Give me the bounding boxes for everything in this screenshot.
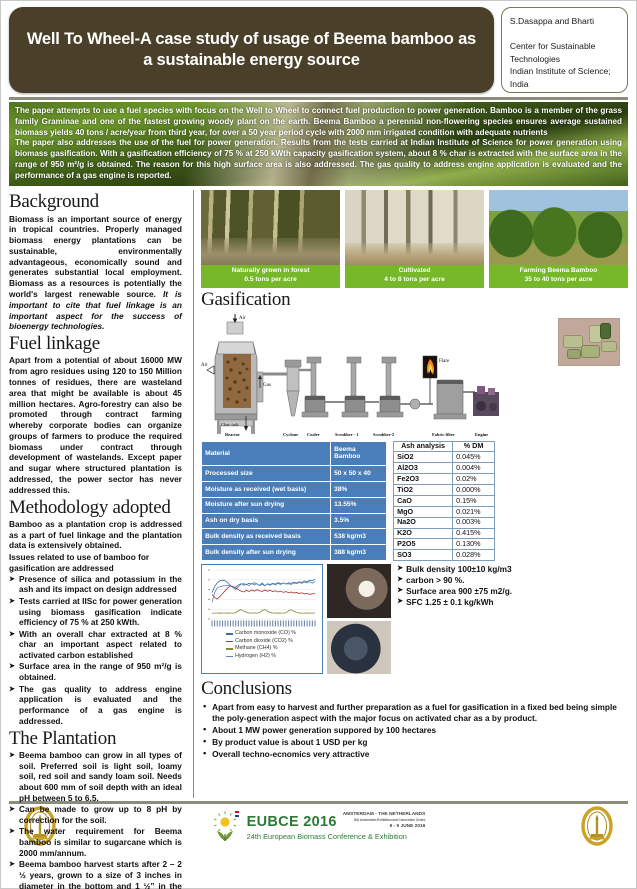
list-item: Apart from easy to harvest and further p…: [201, 702, 628, 724]
table-cell-value: 0.415%: [453, 528, 495, 539]
author-names-text: S.Dasappa and Bharti: [510, 15, 619, 27]
svg-text:Engine: Engine: [475, 432, 488, 437]
list-item: By product value is about 1 USD per kg: [201, 737, 628, 748]
table-cell-value: 3.5%: [331, 513, 387, 529]
svg-text:Cyclone: Cyclone: [283, 432, 298, 437]
table-cell-label: Moisture after sun drying: [202, 497, 331, 513]
svg-text:Scrubber - 1: Scrubber - 1: [335, 432, 358, 437]
table-cell-value: 0.028%: [453, 550, 495, 561]
table-row: Fe2O30.02%: [394, 474, 495, 485]
legend-label: Carbon monoxide (CO) %: [235, 630, 296, 638]
methodology-lead: Issues related to use of bamboo for gasi…: [9, 552, 182, 574]
table-cell-value: 538 kg/m3: [331, 529, 387, 545]
table-cell-value: 0.130%: [453, 539, 495, 550]
eubce-sun-plant-icon: [212, 810, 242, 842]
legend-label: Hydrogen (H2) %: [235, 653, 276, 661]
svg-text:Char /ash: Char /ash: [221, 422, 239, 427]
background-text-plain: Biomass is an important source of energy…: [9, 214, 182, 299]
chart-series-methane-ch4-: [212, 610, 315, 614]
table-cell-label: Al2O3: [394, 463, 453, 474]
legend-entry: Carbon dioxide (CO2) %: [204, 638, 320, 646]
table-row: MaterialBeema Bamboo: [202, 441, 387, 465]
abstract-paragraph-1: The paper attempts to use a fuel species…: [15, 106, 622, 138]
table-cell-label: K2O: [394, 528, 453, 539]
list-item: Surface area 900 ±75 m2/g.: [397, 586, 628, 597]
legend-swatch: [226, 648, 233, 649]
table-cell-label: Bulk density after sun drying: [202, 545, 331, 561]
table-cell-label: Processed size: [202, 465, 331, 481]
bamboo-forest-image: [201, 190, 340, 265]
eubce-location-block: AMSTERDAM - THE NETHERLANDS RAI Amsterda…: [343, 812, 426, 830]
fuel-linkage-text: Apart from a potential of about 16000 MW…: [9, 355, 182, 495]
background-heading: Background: [9, 191, 182, 212]
gasification-diagram: Air Air Gas Char /ash: [201, 312, 628, 440]
gas-composition-line-chart-svg: [204, 567, 318, 629]
photo-caption-line-2: 35 to 40 tons per acre: [490, 276, 627, 285]
data-tables-row: MaterialBeema Bamboo Processed size50 x …: [201, 441, 628, 562]
svg-text:Air: Air: [201, 363, 208, 368]
list-item: With an overall char extracted at 8 % ch…: [9, 629, 182, 661]
list-item: Surface area in the range of 950 m²/g is…: [9, 661, 182, 683]
table-header-cell: Ash analysis: [394, 441, 453, 452]
conclusions-heading: Conclusions: [201, 678, 628, 699]
table-row: Na2O0.003%: [394, 517, 495, 528]
fuel-linkage-heading: Fuel linkage: [9, 333, 182, 354]
abstract-paragraph-2: The paper also addresses the use of the …: [15, 138, 622, 181]
activated-char-pellet-image: [327, 564, 391, 618]
table-header-cell: % DM: [453, 441, 495, 452]
table-cell-label: Ash on dry basis: [202, 513, 331, 529]
list-item: The water requirement for Beema bamboo i…: [9, 826, 182, 858]
list-item: Tests carried at IISc for power generati…: [9, 596, 182, 628]
table-row: SO30.028%: [394, 550, 495, 561]
abstract-banner: The paper attempts to use a fuel species…: [9, 102, 628, 186]
methodology-intro: Bamboo as a plantation crop is addressed…: [9, 519, 182, 551]
table-row: Bulk density as received basis538 kg/m3: [202, 529, 387, 545]
author-names: S.Dasappa and Bharti: [510, 15, 619, 27]
conclusions-section: Conclusions Apart from easy to harvest a…: [201, 678, 628, 760]
table-cell-label: Na2O: [394, 517, 453, 528]
eubce-text-block: EUBCE 2016 AMSTERDAM - THE NETHERLANDS R…: [247, 812, 426, 841]
table-cell-value: 0.045%: [453, 452, 495, 463]
photo-caption: Naturally grown in forest 0.5 tons per a…: [201, 265, 340, 288]
bamboo-photo-row: Naturally grown in forest 0.5 tons per a…: [201, 190, 628, 288]
photo-cultivated: Cultivated 4 to 8 tons per acre: [345, 190, 484, 288]
table-row: Processed size50 x 50 x 40: [202, 465, 387, 481]
iisc-logo-right-icon: [580, 806, 614, 846]
photo-caption-line-2: 0.5 tons per acre: [202, 276, 339, 285]
svg-text:Reactor: Reactor: [225, 432, 240, 437]
eubce-location-line-3: 6 - 9 JUNE 2016: [390, 824, 426, 829]
list-item: About 1 MW power generation suppored by …: [201, 725, 628, 736]
table-cell-label: CaO: [394, 495, 453, 506]
background-text: Biomass is an important source of energy…: [9, 214, 182, 333]
table-cell-value: 0.02%: [453, 474, 495, 485]
title-box: Well To Wheel-A case study of usage of B…: [9, 7, 494, 93]
svg-text:Gas: Gas: [263, 383, 271, 388]
left-column: Background Biomass is an important sourc…: [9, 190, 189, 798]
table-cell-value: 13.55%: [331, 497, 387, 513]
page-title: Well To Wheel-A case study of usage of B…: [23, 29, 480, 72]
table-row: P2O50.130%: [394, 539, 495, 550]
table-cell-label: Bulk density as received basis: [202, 529, 331, 545]
legend-entry: Carbon monoxide (CO) %: [204, 630, 320, 638]
chart-series-carbon-dioxide-co2-: [212, 586, 315, 599]
photo-naturally-grown: Naturally grown in forest 0.5 tons per a…: [201, 190, 340, 288]
photo-caption: Cultivated 4 to 8 tons per acre: [345, 265, 484, 288]
table-cell-value: 0.15%: [453, 495, 495, 506]
column-divider: [193, 190, 194, 798]
ash-analysis-table: Ash analysis% DM SiO20.045% Al2O30.004% …: [393, 441, 495, 562]
table-row: Moisture as received (wet basis)38%: [202, 481, 387, 497]
table-cell-label: MgO: [394, 506, 453, 517]
svg-text:Cooler: Cooler: [307, 432, 320, 437]
eubce-location-line-1: AMSTERDAM - THE NETHERLANDS: [343, 812, 426, 817]
list-item: Beema bamboo harvest starts after 2 – 2 …: [9, 859, 182, 889]
legend-entry: Hydrogen (H2) %: [204, 653, 320, 661]
legend-entry: Methane (CH4) %: [204, 645, 320, 653]
header-divider: [9, 97, 628, 100]
char-photo-column: [327, 564, 391, 674]
list-item: carbon > 90 %.: [397, 575, 628, 586]
gasification-heading: Gasification: [201, 289, 628, 310]
table-cell-label: Fe2O3: [394, 474, 453, 485]
table-cell-value: 0.021%: [453, 506, 495, 517]
list-item: Bulk density 100±10 kg/m3: [397, 564, 628, 575]
table-cell-value: 388 kg/m3: [331, 545, 387, 561]
gas-composition-row: Carbon monoxide (CO) % Carbon dioxide (C…: [201, 564, 628, 674]
table-row: SiO20.045%: [394, 452, 495, 463]
table-cell-value: 38%: [331, 481, 387, 497]
gasifier-schematic-svg: Air Air Gas Char /ash: [201, 312, 511, 438]
photo-farming-beema: Farming Beema Bamboo 35 to 40 tons per a…: [489, 190, 628, 288]
bamboo-char-chips-image: [558, 318, 620, 366]
list-item: Beema bamboo can grow in all types of so…: [9, 750, 182, 804]
eubce-logo: EUBCE 2016 AMSTERDAM - THE NETHERLANDS R…: [212, 810, 426, 842]
table-cell-label: P2O5: [394, 539, 453, 550]
table-cell-value: 0.004%: [453, 463, 495, 474]
methodology-bullet-list: Presence of silica and potassium in the …: [9, 574, 182, 727]
svg-text:Air: Air: [239, 316, 246, 321]
table-row: K2O0.415%: [394, 528, 495, 539]
photo-caption-line-1: Farming Beema Bamboo: [490, 267, 627, 276]
table-cell-label: TiO2: [394, 485, 453, 496]
cultivated-bamboo-image: [345, 190, 484, 265]
table-cell-label: SiO2: [394, 452, 453, 463]
table-row: Moisture after sun drying13.55%: [202, 497, 387, 513]
table-row: Ash analysis% DM: [394, 441, 495, 452]
methodology-heading: Methodology adopted: [9, 497, 182, 518]
table-cell-label: Moisture as received (wet basis): [202, 481, 331, 497]
right-column: Naturally grown in forest 0.5 tons per a…: [198, 190, 628, 798]
legend-label: Carbon dioxide (CO2) %: [235, 638, 293, 646]
photo-caption: Farming Beema Bamboo 35 to 40 tons per a…: [489, 265, 628, 288]
plantation-bullet-list: Beema bamboo can grow in all types of so…: [9, 750, 182, 889]
legend-label: Methane (CH4) %: [235, 645, 277, 653]
author-box: S.Dasappa and Bharti Center for Sustaina…: [501, 7, 628, 93]
svg-text:Scrubber-2: Scrubber-2: [373, 432, 394, 437]
char-properties-list: Bulk density 100±10 kg/m3 carbon > 90 %.…: [395, 564, 628, 674]
table-row: MgO0.021%: [394, 506, 495, 517]
table-row: Al2O30.004%: [394, 463, 495, 474]
eubce-event-name: EUBCE 2016: [247, 815, 337, 830]
svg-text:Flare: Flare: [439, 359, 450, 364]
affiliation: Center for Sustainable Technologies Indi…: [510, 40, 619, 90]
photo-caption-line-2: 4 to 8 tons per acre: [346, 276, 483, 285]
material-properties-table: MaterialBeema Bamboo Processed size50 x …: [201, 441, 387, 562]
legend-swatch: [226, 641, 233, 642]
list-item: Overall techno-ecnomics very attractive: [201, 749, 628, 760]
poster-header: Well To Wheel-A case study of usage of B…: [9, 7, 628, 93]
table-header-cell: Material: [202, 441, 331, 465]
poster-body: Background Biomass is an important sourc…: [9, 190, 628, 798]
poster-root: Well To Wheel-A case study of usage of B…: [0, 0, 637, 889]
table-row: Bulk density after sun drying388 kg/m3: [202, 545, 387, 561]
list-item: Can be made to grow up to 8 pH by correc…: [9, 804, 182, 826]
gas-composition-chart: Carbon monoxide (CO) % Carbon dioxide (C…: [201, 564, 323, 674]
list-item: The gas quality to address engine applic…: [9, 684, 182, 727]
table-row: CaO0.15%: [394, 495, 495, 506]
char-lumps-image: [327, 621, 391, 675]
photo-caption-line-1: Naturally grown in forest: [202, 267, 339, 276]
affiliation-line-2: Indian Institute of Science; India: [510, 65, 619, 90]
table-row: Ash on dry basis3.5%: [202, 513, 387, 529]
beema-bamboo-farm-image: [489, 190, 628, 265]
eubce-subtitle: 24th European Biomass Conference & Exhib…: [247, 832, 426, 841]
table-cell-label: SO3: [394, 550, 453, 561]
plantation-heading: The Plantation: [9, 728, 182, 749]
table-cell-value: 0.000%: [453, 485, 495, 496]
table-header-cell: Beema Bamboo: [331, 441, 387, 465]
table-cell-value: 50 x 50 x 40: [331, 465, 387, 481]
eubce-location-line-2: RAI Amsterdam Exhibition and Convention …: [354, 818, 425, 822]
photo-caption-line-1: Cultivated: [346, 267, 483, 276]
table-row: TiO20.000%: [394, 485, 495, 496]
table-cell-value: 0.003%: [453, 517, 495, 528]
legend-swatch: [226, 656, 233, 657]
legend-swatch: [226, 633, 233, 634]
list-item: SFC 1.25 ± 0.1 kg/kWh: [397, 597, 628, 608]
svg-text:Fabric filter: Fabric filter: [432, 432, 455, 437]
affiliation-line-1: Center for Sustainable Technologies: [510, 40, 619, 65]
chart-legend: Carbon monoxide (CO) % Carbon dioxide (C…: [204, 630, 320, 660]
list-item: Presence of silica and potassium in the …: [9, 574, 182, 596]
